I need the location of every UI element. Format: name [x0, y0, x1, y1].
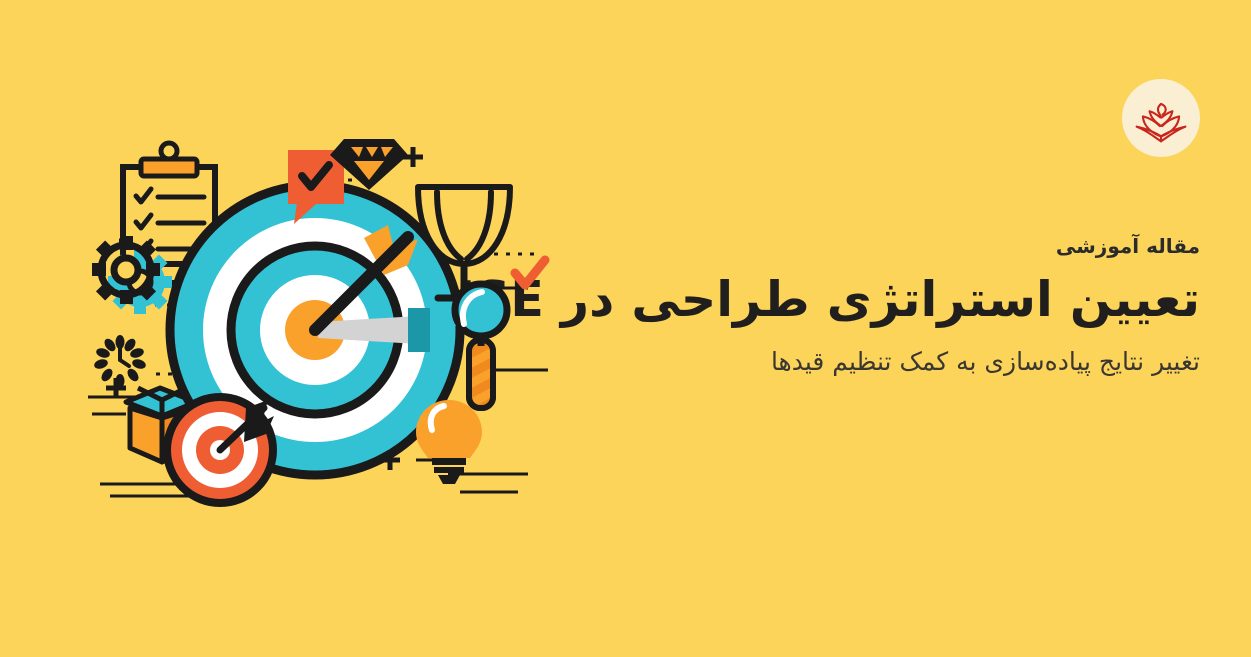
article-kicker: مقاله آموزشی — [560, 232, 1200, 260]
checkmark-icon — [515, 260, 545, 285]
small-dartboard-icon — [167, 397, 274, 503]
site-logo-badge[interactable] — [1122, 79, 1200, 157]
lightbulb-icon — [416, 400, 482, 484]
article-banner: مقاله آموزشی تعیین استراتژی طراحی در ISE… — [0, 0, 1251, 657]
banner-text-block: مقاله آموزشی تعیین استراتژی طراحی در ISE… — [560, 232, 1200, 380]
open-book-lotus-icon — [1132, 93, 1190, 143]
target-goal-achievement-illustration — [78, 112, 588, 512]
loading-spinner-icon — [93, 335, 147, 388]
article-subtitle: تغییر نتایج پیاده‌سازی به کمک تنظیم قیده… — [560, 344, 1200, 380]
article-title: تعیین استراتژی طراحی در ISE — [560, 270, 1200, 330]
